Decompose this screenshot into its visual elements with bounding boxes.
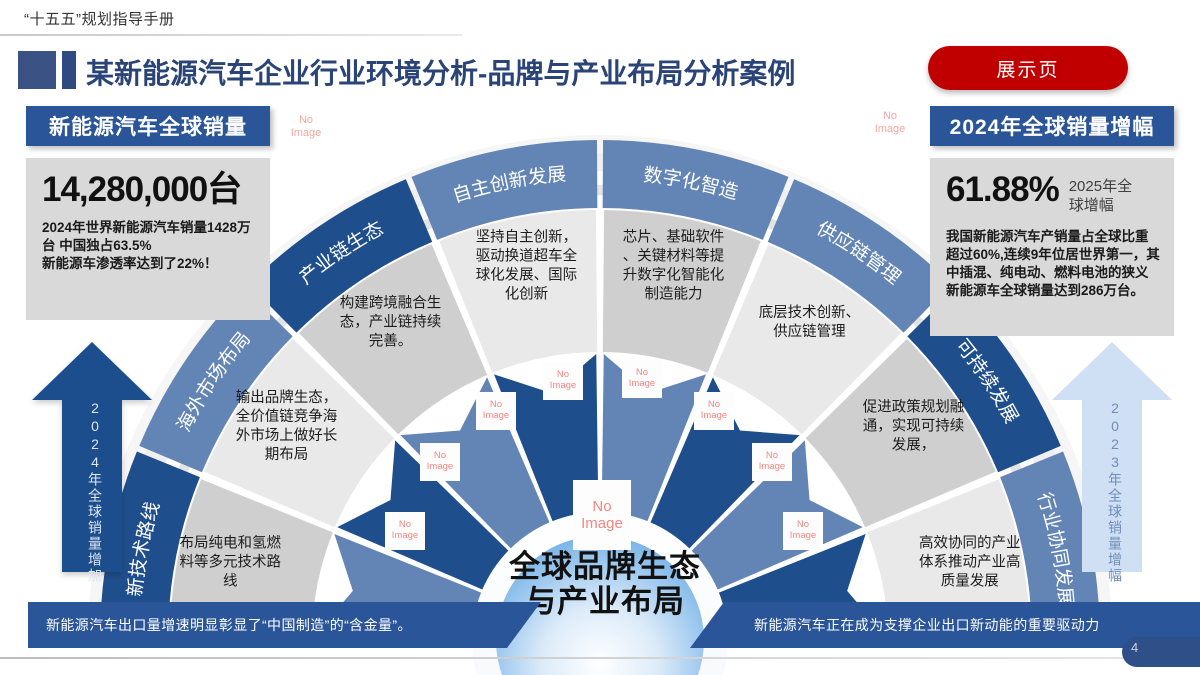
slide-root: “十五五”规划指导手册 某新能源汽车企业行业环境分析-品牌与产业布局分析案例 展… bbox=[0, 0, 1200, 675]
left-panel-body: 14,280,000台 2024年世界新能源汽车销量1428万台 中国独占63.… bbox=[26, 158, 270, 320]
left-arrow-label: 2024年全球销量增加 bbox=[85, 400, 105, 584]
no-image-placeholder-top-left: No Image bbox=[284, 110, 328, 144]
footer-banner-left: 新能源汽车出口量增速明显彰显了“中国制造”的“含金量”。 bbox=[28, 602, 541, 648]
petal-no-image-7: No Image bbox=[752, 443, 792, 481]
petal-no-image-5: No Image bbox=[622, 360, 662, 398]
growth-rate-value: 61.88% bbox=[946, 172, 1059, 207]
footer-banner-right: 新能源汽车正在成为支撑企业出口新动能的重要驱动力 bbox=[690, 602, 1200, 648]
global-sales-value: 14,280,000台 bbox=[42, 172, 256, 207]
right-arrow-label: 2023年全球销量增幅 bbox=[1105, 400, 1125, 584]
petal-no-image-3: No Image bbox=[476, 392, 516, 430]
right-panel-body: 61.88% 2025年全球增幅 我国新能源汽车产销量占全球比重超过60%,连续… bbox=[930, 158, 1174, 336]
petal-no-image-4: No Image bbox=[543, 362, 583, 400]
petal-no-image-8: No Image bbox=[783, 512, 823, 550]
petal-no-image-2: No Image bbox=[420, 443, 460, 481]
global-sales-note: 2024年世界新能源汽车销量1428万台 中国独占63.5% 新能源车渗透率达到… bbox=[42, 219, 256, 274]
page-number: 4 bbox=[1131, 640, 1138, 655]
petal-no-image-6: No Image bbox=[694, 392, 734, 430]
growth-rate-caption: 2025年全球增幅 bbox=[1069, 172, 1147, 216]
footer-divider bbox=[0, 657, 1200, 659]
no-image-placeholder-top-right: No Image bbox=[868, 106, 912, 140]
center-no-image-placeholder: No Image bbox=[573, 480, 631, 550]
petal-no-image-1: No Image bbox=[385, 512, 425, 550]
growth-rate-note: 我国新能源汽车产销量占全球比重超过60%,连续9年位居世界第一，其中插混、纯电动… bbox=[946, 228, 1160, 301]
right-panel-header: 2024年全球销量增幅 bbox=[930, 106, 1174, 146]
left-panel-header: 新能源汽车全球销量 bbox=[26, 106, 270, 146]
